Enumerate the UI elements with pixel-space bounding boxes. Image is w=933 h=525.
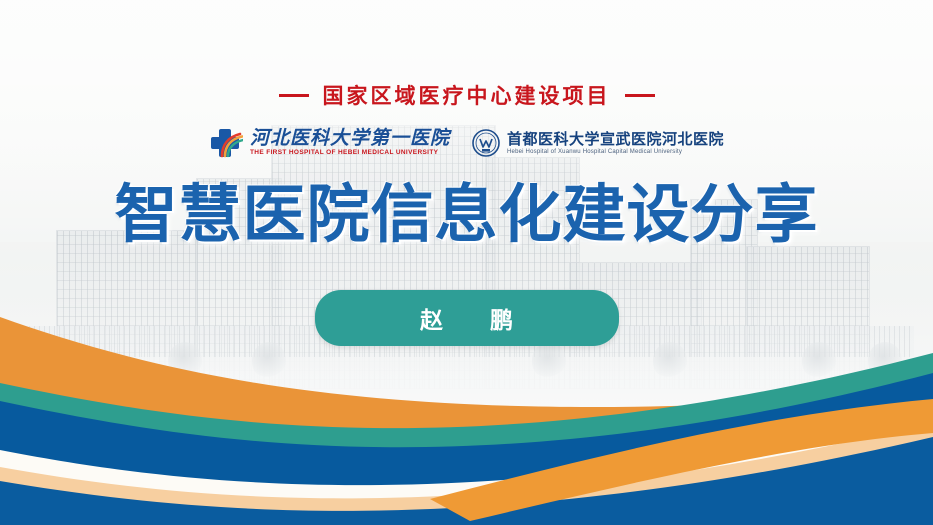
- banner-dash-right: [625, 94, 655, 97]
- blue-cross-rainbow-icon: [209, 127, 243, 159]
- slide-title: 智慧医院信息化建设分享: [115, 181, 819, 250]
- logo-hebei-medical-university: 河北医科大学第一医院 THE FIRST HOSPITAL OF HEBEI M…: [209, 127, 450, 159]
- logo-text-block: 首都医科大学宣武医院河北医院 Hebei Hospital of Xuanwu …: [507, 132, 724, 155]
- presentation-slide: 国家区域医疗中心建设项目 河北医科大学第一医院 THE FIRST HOSPIT…: [0, 0, 933, 525]
- logo-name-en: THE FIRST HOSPITAL OF HEBEI MEDICAL UNIV…: [250, 150, 450, 157]
- logo-name-cn: 河北医科大学第一医院: [250, 129, 450, 148]
- logo-name-en: Hebei Hospital of Xuanwu Hospital Capita…: [507, 149, 724, 155]
- slide-content: 国家区域医疗中心建设项目 河北医科大学第一医院 THE FIRST HOSPIT…: [0, 0, 933, 525]
- logo-name-cn: 首都医科大学宣武医院河北医院: [507, 132, 724, 147]
- logo-text-block: 河北医科大学第一医院 THE FIRST HOSPITAL OF HEBEI M…: [250, 129, 450, 157]
- logo-xuanwu-hebei-hospital: 首都医科大学宣武医院河北医院 Hebei Hospital of Xuanwu …: [472, 129, 724, 157]
- banner-text: 国家区域医疗中心建设项目: [323, 80, 611, 110]
- hospital-logos: 河北医科大学第一医院 THE FIRST HOSPITAL OF HEBEI M…: [209, 127, 724, 159]
- banner-dash-left: [279, 94, 309, 97]
- project-banner: 国家区域医疗中心建设项目: [279, 80, 655, 110]
- presenter-name-badge: 赵 鹏: [315, 290, 619, 346]
- circular-seal-icon: [472, 129, 500, 157]
